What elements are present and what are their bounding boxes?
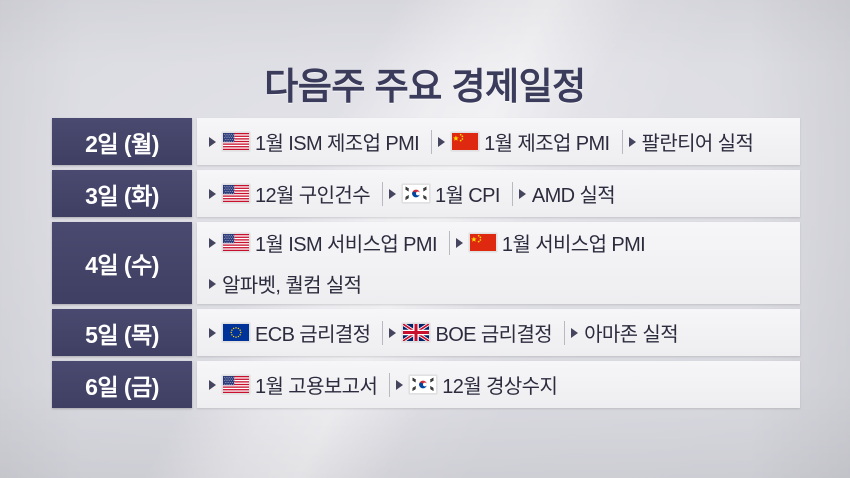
event-separator [382,182,383,206]
date-cell: 4일 (수) [52,222,192,304]
event-separator [564,321,565,345]
event-label: 1월 서비스업 PMI [502,228,645,257]
cn-flag [451,132,479,151]
event-label: 1월 ISM 제조업 PMI [255,127,419,156]
event-item[interactable]: 1월 서비스업 PMI [452,228,655,257]
triangle-bullet-icon [209,328,216,338]
event-label: AMD 실적 [532,179,615,208]
events-cell: 1월 고용보고서12월 경상수지 [197,361,800,408]
event-label: 12월 구인건수 [255,179,370,208]
event-item[interactable]: 아마존 실적 [567,318,688,347]
event-item[interactable]: 12월 구인건수 [207,179,380,208]
event-label: 알파벳, 퀄컴 실적 [222,269,361,298]
event-separator [622,130,623,154]
event-label: 1월 CPI [435,179,500,208]
event-label: BOE 금리결정 [435,318,552,347]
date-cell: 5일 (목) [52,309,192,356]
triangle-bullet-icon [389,189,396,199]
triangle-bullet-icon [209,279,216,289]
event-label: 12월 경상수지 [442,370,557,399]
event-line: 12월 구인건수1월 CPIAMD 실적 [207,170,790,217]
event-item[interactable]: 1월 ISM 서비스업 PMI [207,228,447,257]
event-separator [431,130,432,154]
triangle-bullet-icon [396,380,403,390]
kr-flag [402,184,430,203]
event-item[interactable]: 1월 CPI [385,179,510,208]
triangle-bullet-icon [389,328,396,338]
gb-flag [402,323,430,342]
event-line: 1월 고용보고서12월 경상수지 [207,361,790,408]
triangle-bullet-icon [209,137,216,147]
event-separator [449,231,450,255]
schedule-row: 4일 (수)1월 ISM 서비스업 PMI1월 서비스업 PMI알파벳, 퀄컴 … [52,222,800,304]
triangle-bullet-icon [438,137,445,147]
event-label: ECB 금리결정 [255,318,370,347]
us-flag [222,233,250,252]
event-item[interactable]: 1월 고용보고서 [207,370,387,399]
event-item[interactable]: AMD 실적 [515,179,625,208]
triangle-bullet-icon [519,189,526,199]
event-line: ECB 금리결정BOE 금리결정아마존 실적 [207,309,790,356]
schedule-row: 6일 (금)1월 고용보고서12월 경상수지 [52,361,800,408]
event-separator [512,182,513,206]
event-item[interactable]: ECB 금리결정 [207,318,380,347]
date-cell: 3일 (화) [52,170,192,217]
events-cell: ECB 금리결정BOE 금리결정아마존 실적 [197,309,800,356]
date-cell: 6일 (금) [52,361,192,408]
triangle-bullet-icon [209,380,216,390]
schedule-row: 5일 (목)ECB 금리결정BOE 금리결정아마존 실적 [52,309,800,356]
eu-flag [222,323,250,342]
event-item[interactable]: 12월 경상수지 [392,370,567,399]
triangle-bullet-icon [209,238,216,248]
event-item[interactable]: 알파벳, 퀄컴 실적 [207,269,371,298]
event-item[interactable]: BOE 금리결정 [385,318,562,347]
triangle-bullet-icon [209,189,216,199]
event-item[interactable]: 1월 제조업 PMI [434,127,619,156]
us-flag [222,132,250,151]
schedule-row: 3일 (화)12월 구인건수1월 CPIAMD 실적 [52,170,800,217]
events-cell: 1월 ISM 서비스업 PMI1월 서비스업 PMI알파벳, 퀄컴 실적 [197,222,800,304]
event-label: 팔란티어 실적 [642,127,754,156]
event-line: 알파벳, 퀄컴 실적 [207,263,790,304]
us-flag [222,184,250,203]
events-cell: 12월 구인건수1월 CPIAMD 실적 [197,170,800,217]
events-cell: 1월 ISM 제조업 PMI1월 제조업 PMI팔란티어 실적 [197,118,800,165]
event-label: 1월 제조업 PMI [484,127,609,156]
event-line: 1월 ISM 서비스업 PMI1월 서비스업 PMI [207,222,790,263]
economic-schedule-table: 2일 (월)1월 ISM 제조업 PMI1월 제조업 PMI팔란티어 실적3일 … [52,118,800,408]
event-item[interactable]: 1월 ISM 제조업 PMI [207,127,429,156]
event-label: 1월 ISM 서비스업 PMI [255,228,437,257]
event-separator [389,373,390,397]
triangle-bullet-icon [456,238,463,248]
cn-flag [469,233,497,252]
event-label: 1월 고용보고서 [255,370,377,399]
triangle-bullet-icon [629,137,636,147]
page-title: 다음주 주요 경제일정 [0,56,850,110]
us-flag [222,375,250,394]
date-cell: 2일 (월) [52,118,192,165]
schedule-row: 2일 (월)1월 ISM 제조업 PMI1월 제조업 PMI팔란티어 실적 [52,118,800,165]
triangle-bullet-icon [571,328,578,338]
event-item[interactable]: 팔란티어 실적 [625,127,764,156]
kr-flag [409,375,437,394]
event-separator [382,321,383,345]
event-label: 아마존 실적 [584,318,678,347]
event-line: 1월 ISM 제조업 PMI1월 제조업 PMI팔란티어 실적 [207,118,790,165]
